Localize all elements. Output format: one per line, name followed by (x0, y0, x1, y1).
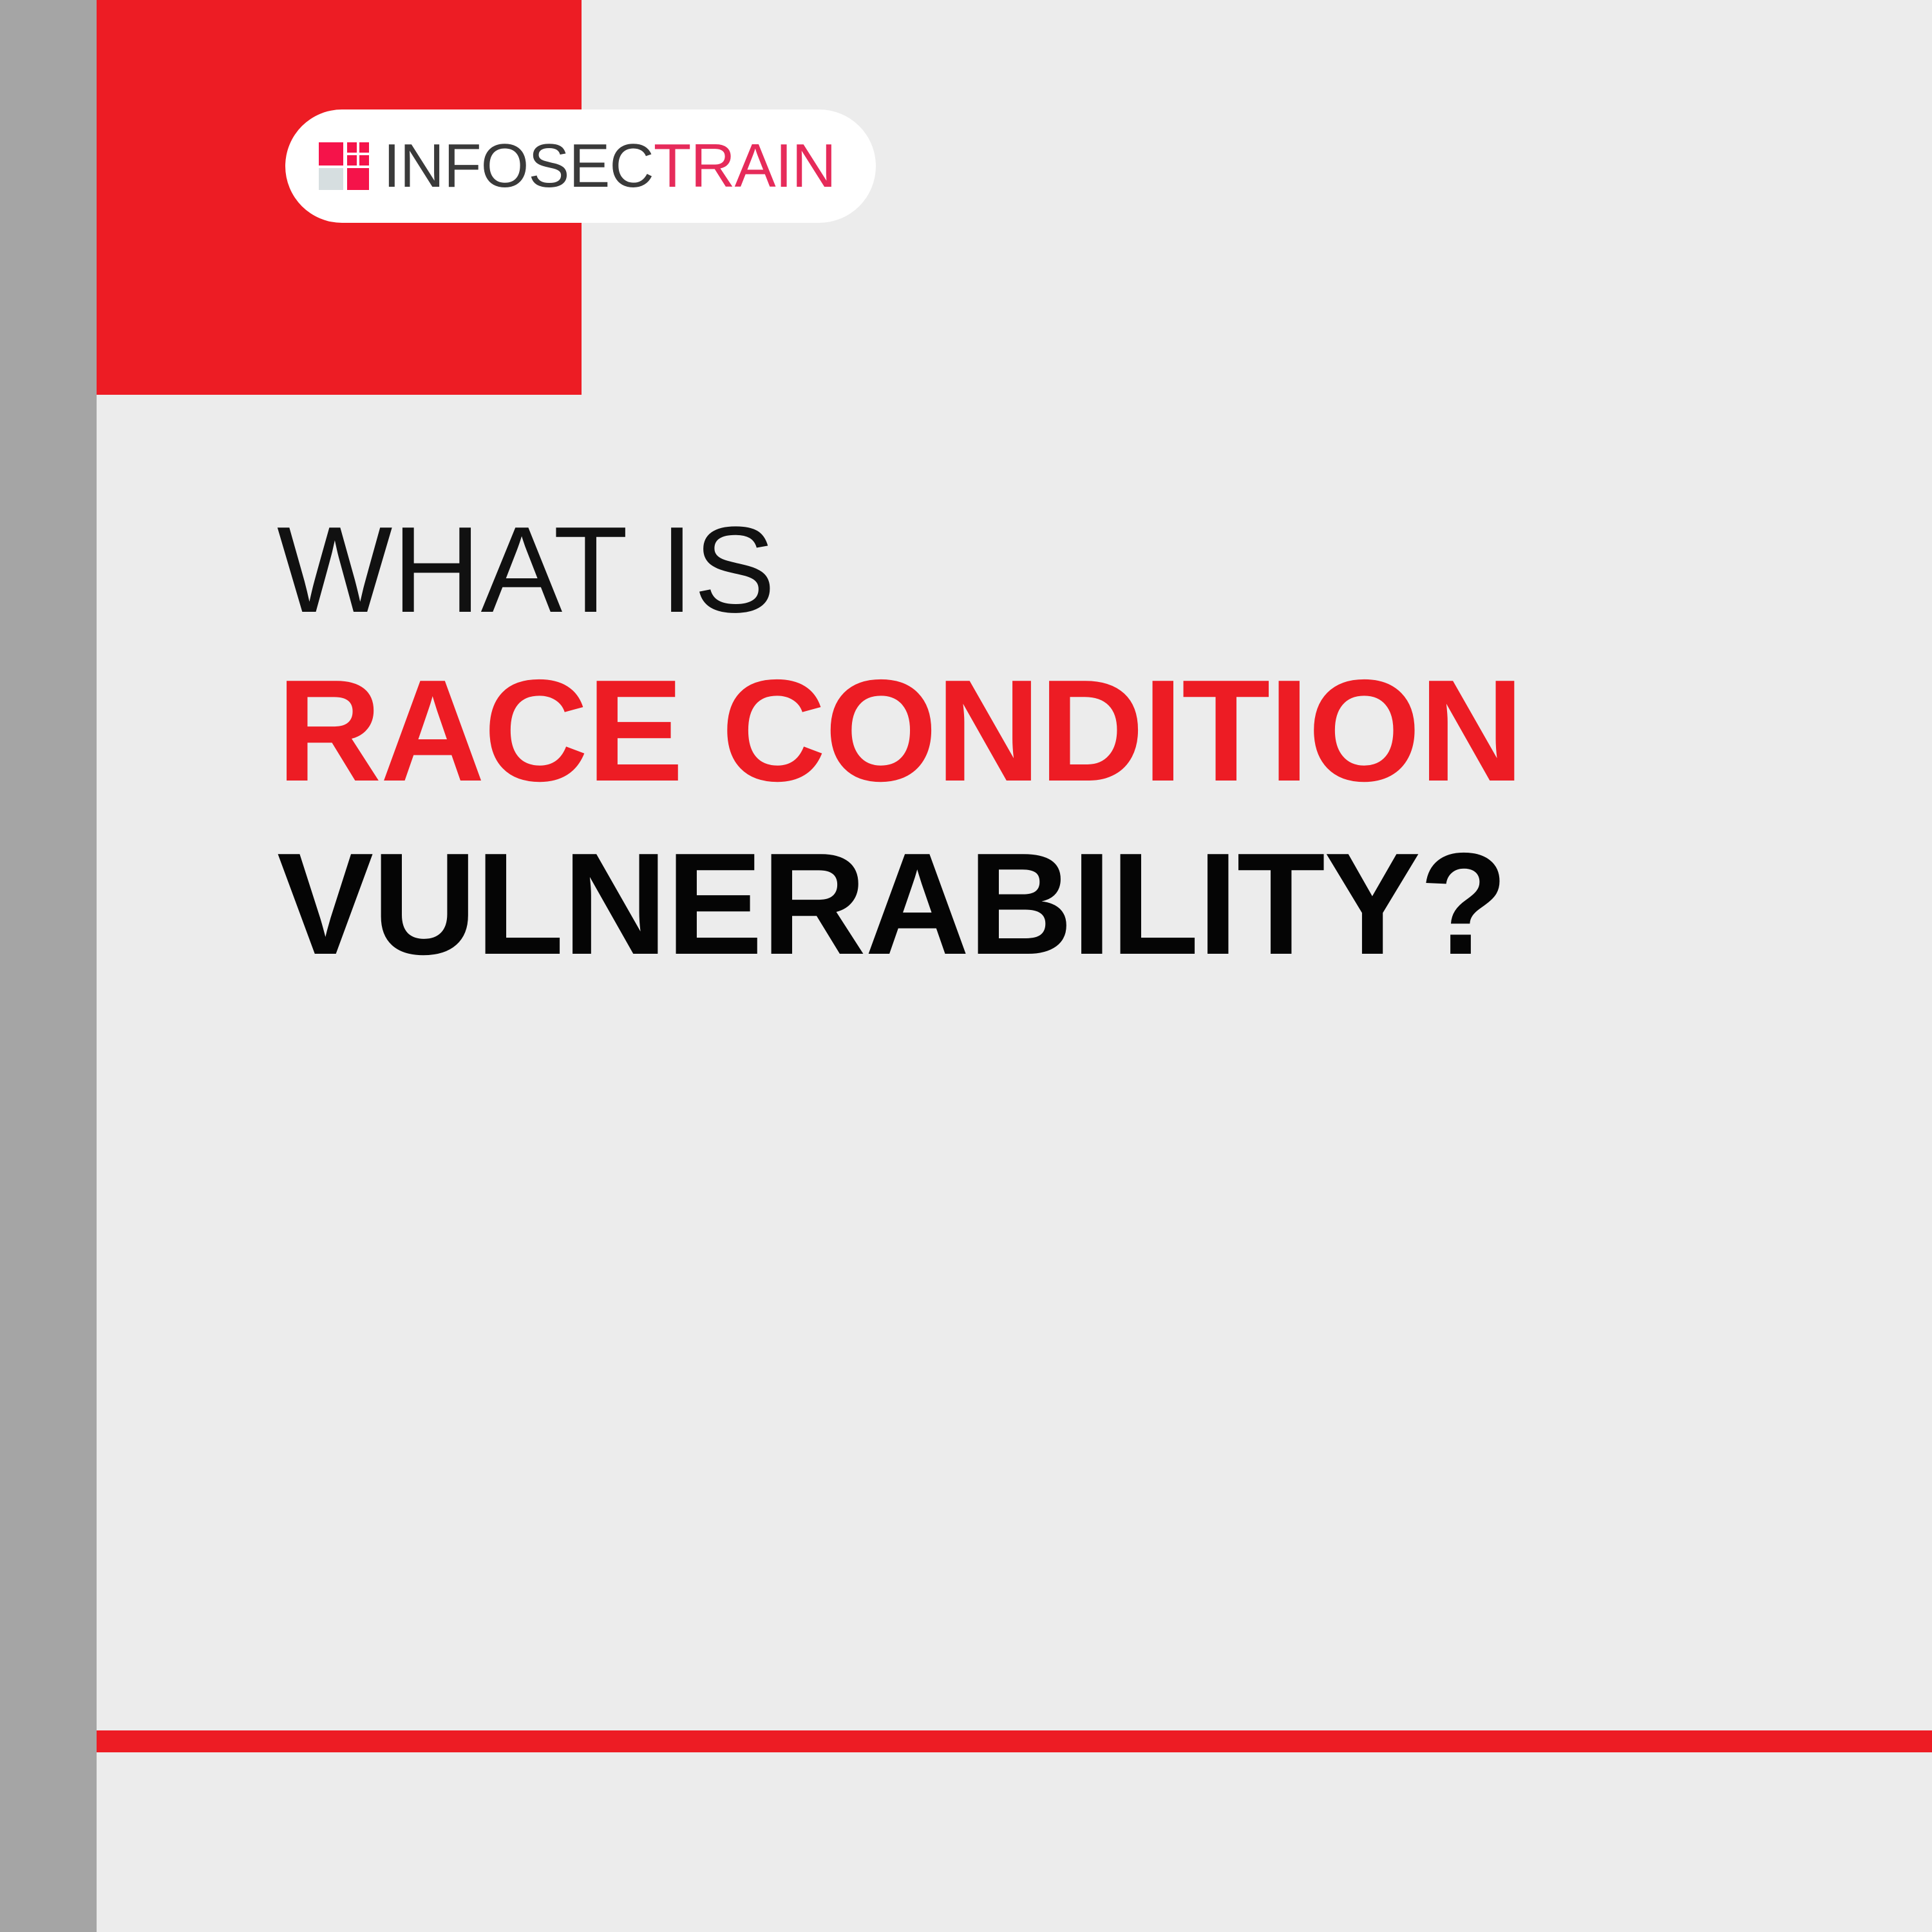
headline-kicker: WHAT IS (277, 509, 1932, 631)
logo-wordmark: INFOSECTRAIN (383, 135, 836, 197)
headline-block: WHAT IS RACE CONDITION VULNERABILITY? (277, 509, 1932, 976)
infosectrain-grid-mark-icon (319, 142, 369, 190)
footer-empty-area (97, 1752, 1932, 1932)
left-gray-edge-bar (0, 0, 97, 1932)
headline-main-line: VULNERABILITY? (277, 831, 1932, 976)
headline-accent-line: RACE CONDITION (277, 658, 1932, 803)
slide-canvas: INFOSECTRAIN WHAT IS RACE CONDITION VULN… (0, 0, 1932, 1932)
infosectrain-logo: INFOSECTRAIN (285, 109, 876, 223)
red-horizontal-rule (97, 1730, 1932, 1752)
logo-word-infosec: INFOSEC (383, 135, 654, 197)
logo-word-train: TRAIN (654, 135, 836, 197)
